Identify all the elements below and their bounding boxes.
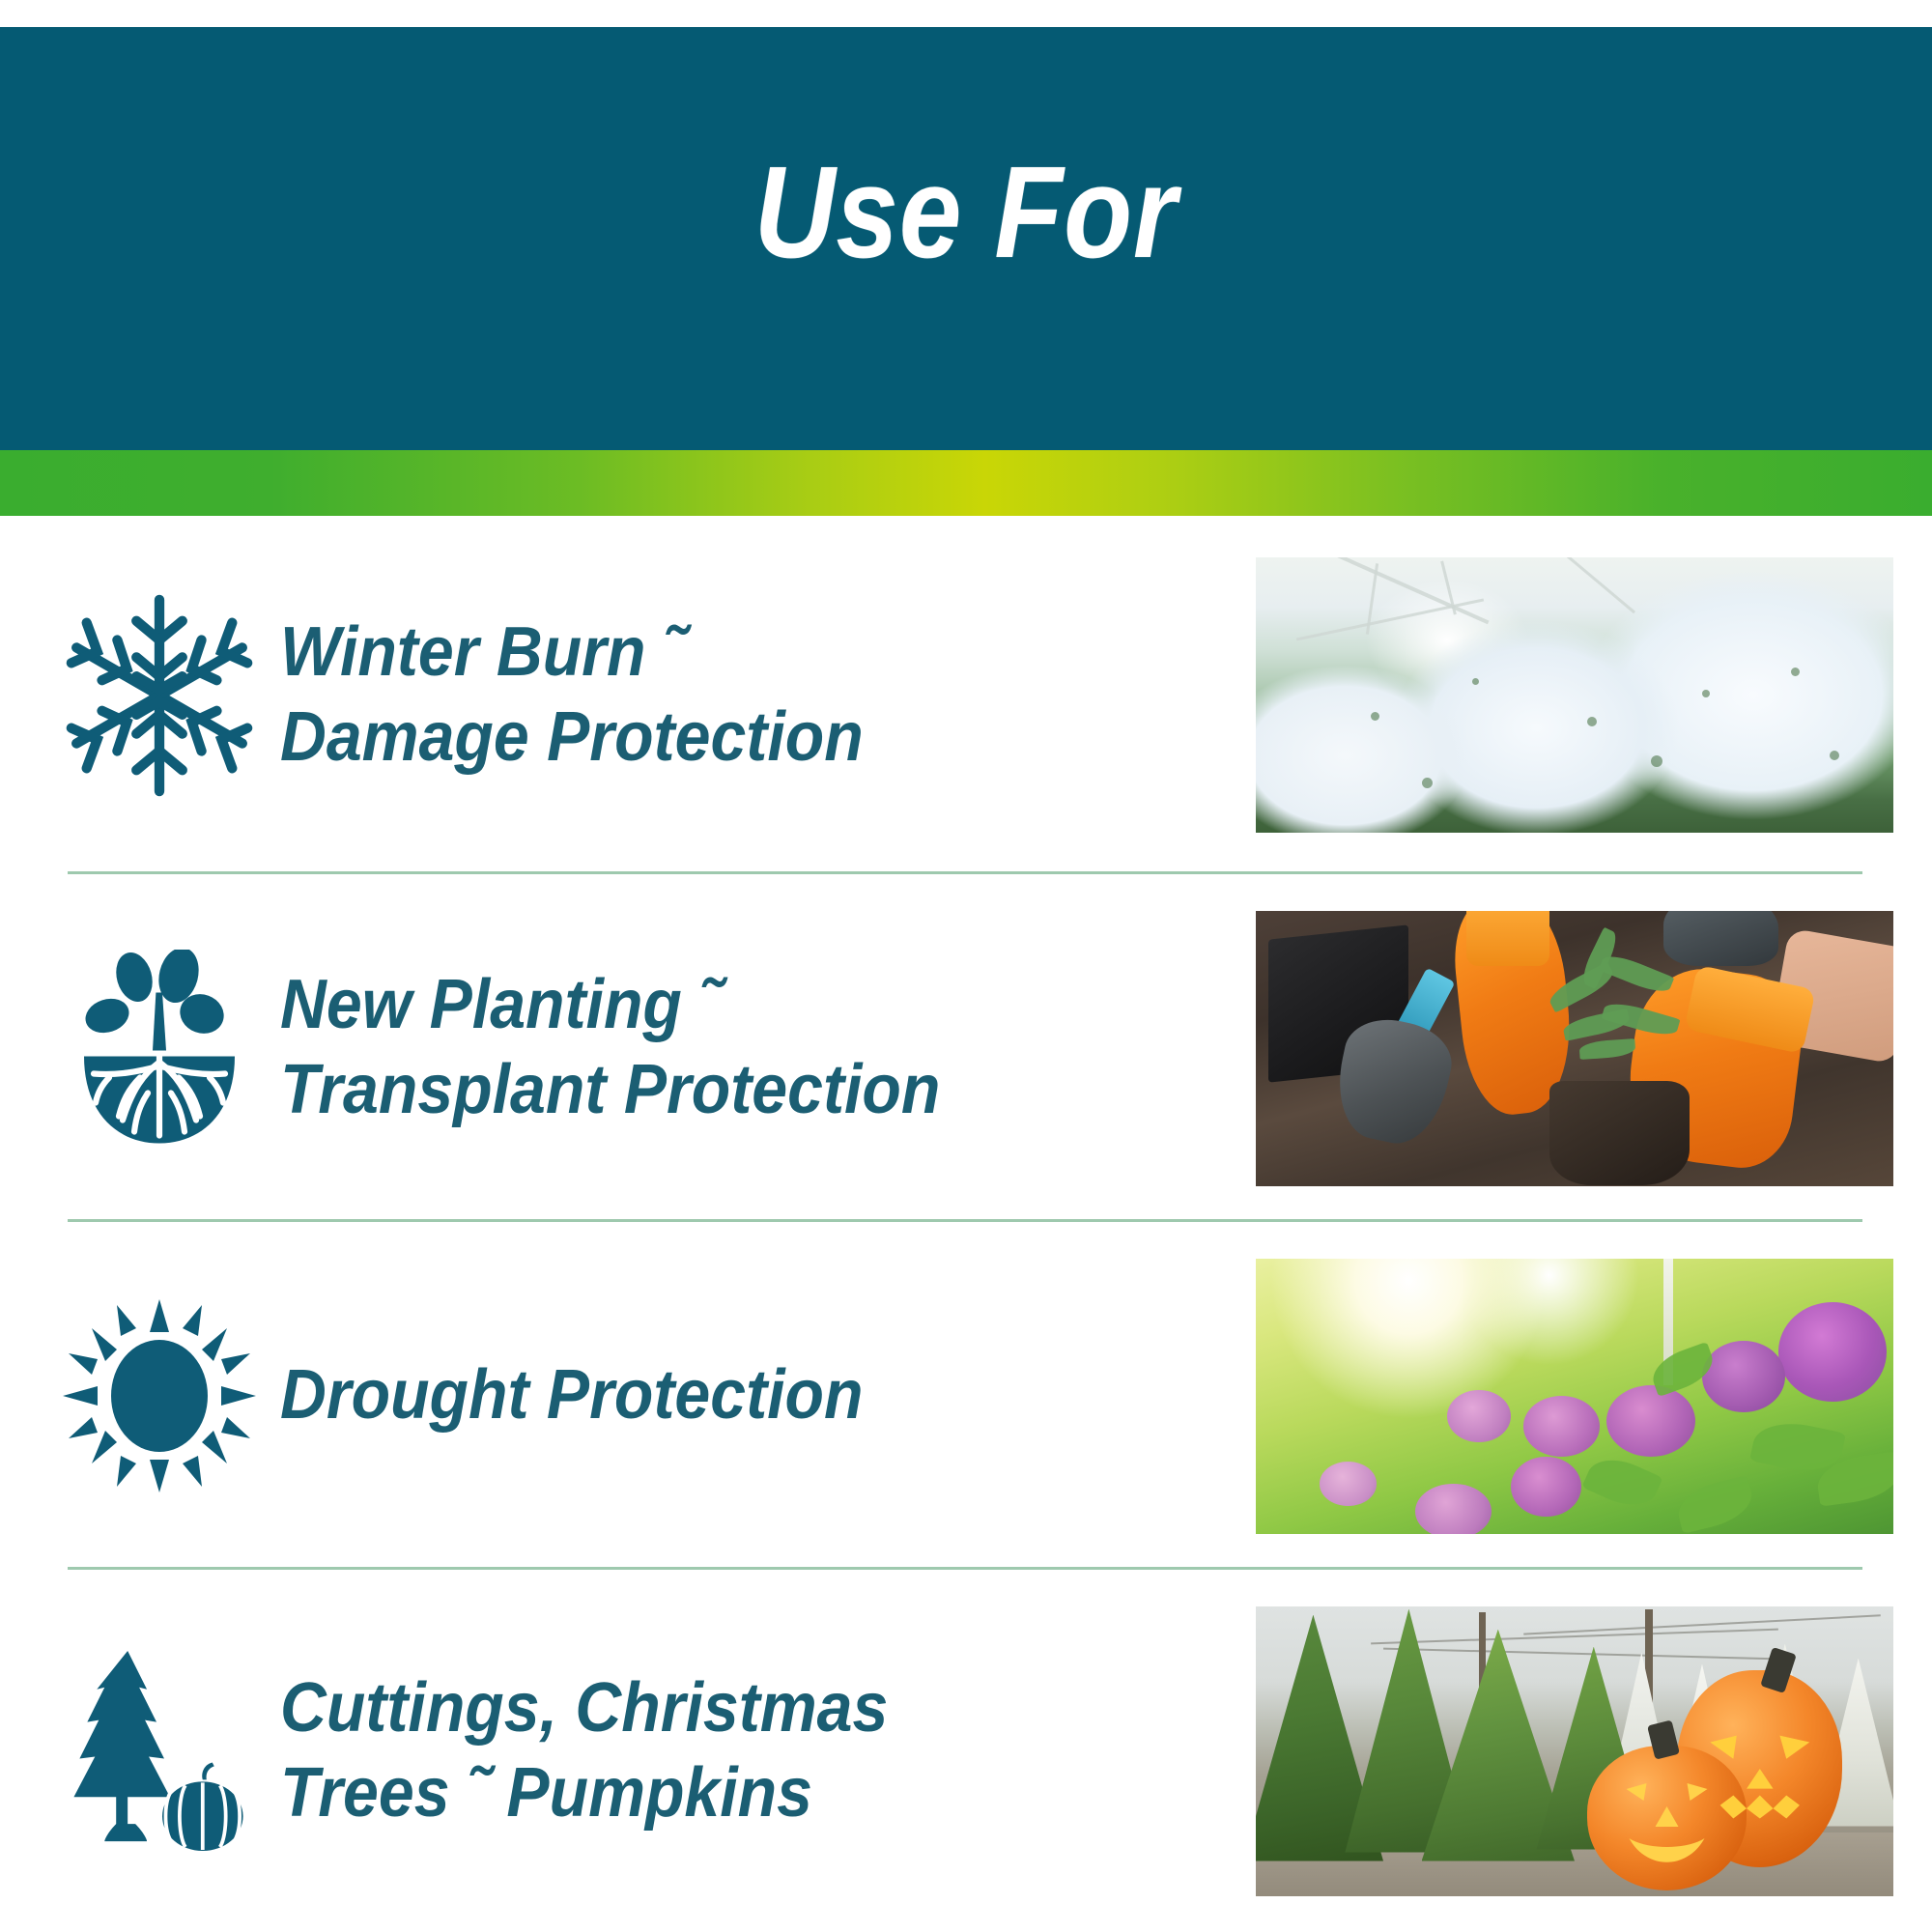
sun-icon — [0, 1299, 280, 1492]
benefit-label-wrap: New Planting ˜ Transplant Protection — [280, 963, 1256, 1133]
benefit-photo-wrap — [1256, 1259, 1932, 1534]
header-banner: Use For — [0, 27, 1932, 450]
snowflake-icon — [0, 594, 280, 797]
sunlit-garden-photo — [1256, 1259, 1893, 1534]
benefit-label-wrap: Cuttings, Christmas Trees ˜ Pumpkins — [280, 1666, 1256, 1836]
planting-seedling-photo — [1256, 911, 1893, 1186]
seedling-with-roots-icon — [0, 950, 280, 1148]
list-item: Drought Protection — [0, 1222, 1932, 1570]
benefit-photo-wrap — [1256, 1606, 1932, 1896]
benefit-label: Winter Burn ˜ Damage Protection — [280, 611, 1169, 781]
list-item: Winter Burn ˜ Damage Protection — [0, 516, 1932, 874]
christmas-tree-lot-pumpkins-photo — [1256, 1606, 1893, 1896]
pine-tree-and-pumpkin-icon — [0, 1647, 280, 1855]
benefit-label: Drought Protection — [280, 1353, 1169, 1438]
benefits-list: Winter Burn ˜ Damage Protection — [0, 516, 1932, 1932]
benefit-label-wrap: Drought Protection — [280, 1353, 1256, 1438]
benefit-label-wrap: Winter Burn ˜ Damage Protection — [280, 611, 1256, 781]
list-item: New Planting ˜ Transplant Protection — [0, 874, 1932, 1222]
use-for-infographic: Use For — [0, 0, 1932, 1932]
benefit-label: New Planting ˜ Transplant Protection — [280, 963, 1169, 1133]
benefit-label: Cuttings, Christmas Trees ˜ Pumpkins — [280, 1666, 1169, 1836]
snow-covered-shrubs-photo — [1256, 557, 1893, 833]
benefit-photo-wrap — [1256, 557, 1932, 833]
page-title: Use For — [754, 147, 1178, 277]
list-item: Cuttings, Christmas Trees ˜ Pumpkins — [0, 1570, 1932, 1932]
benefit-photo-wrap — [1256, 911, 1932, 1186]
accent-gradient-bar — [0, 450, 1932, 516]
